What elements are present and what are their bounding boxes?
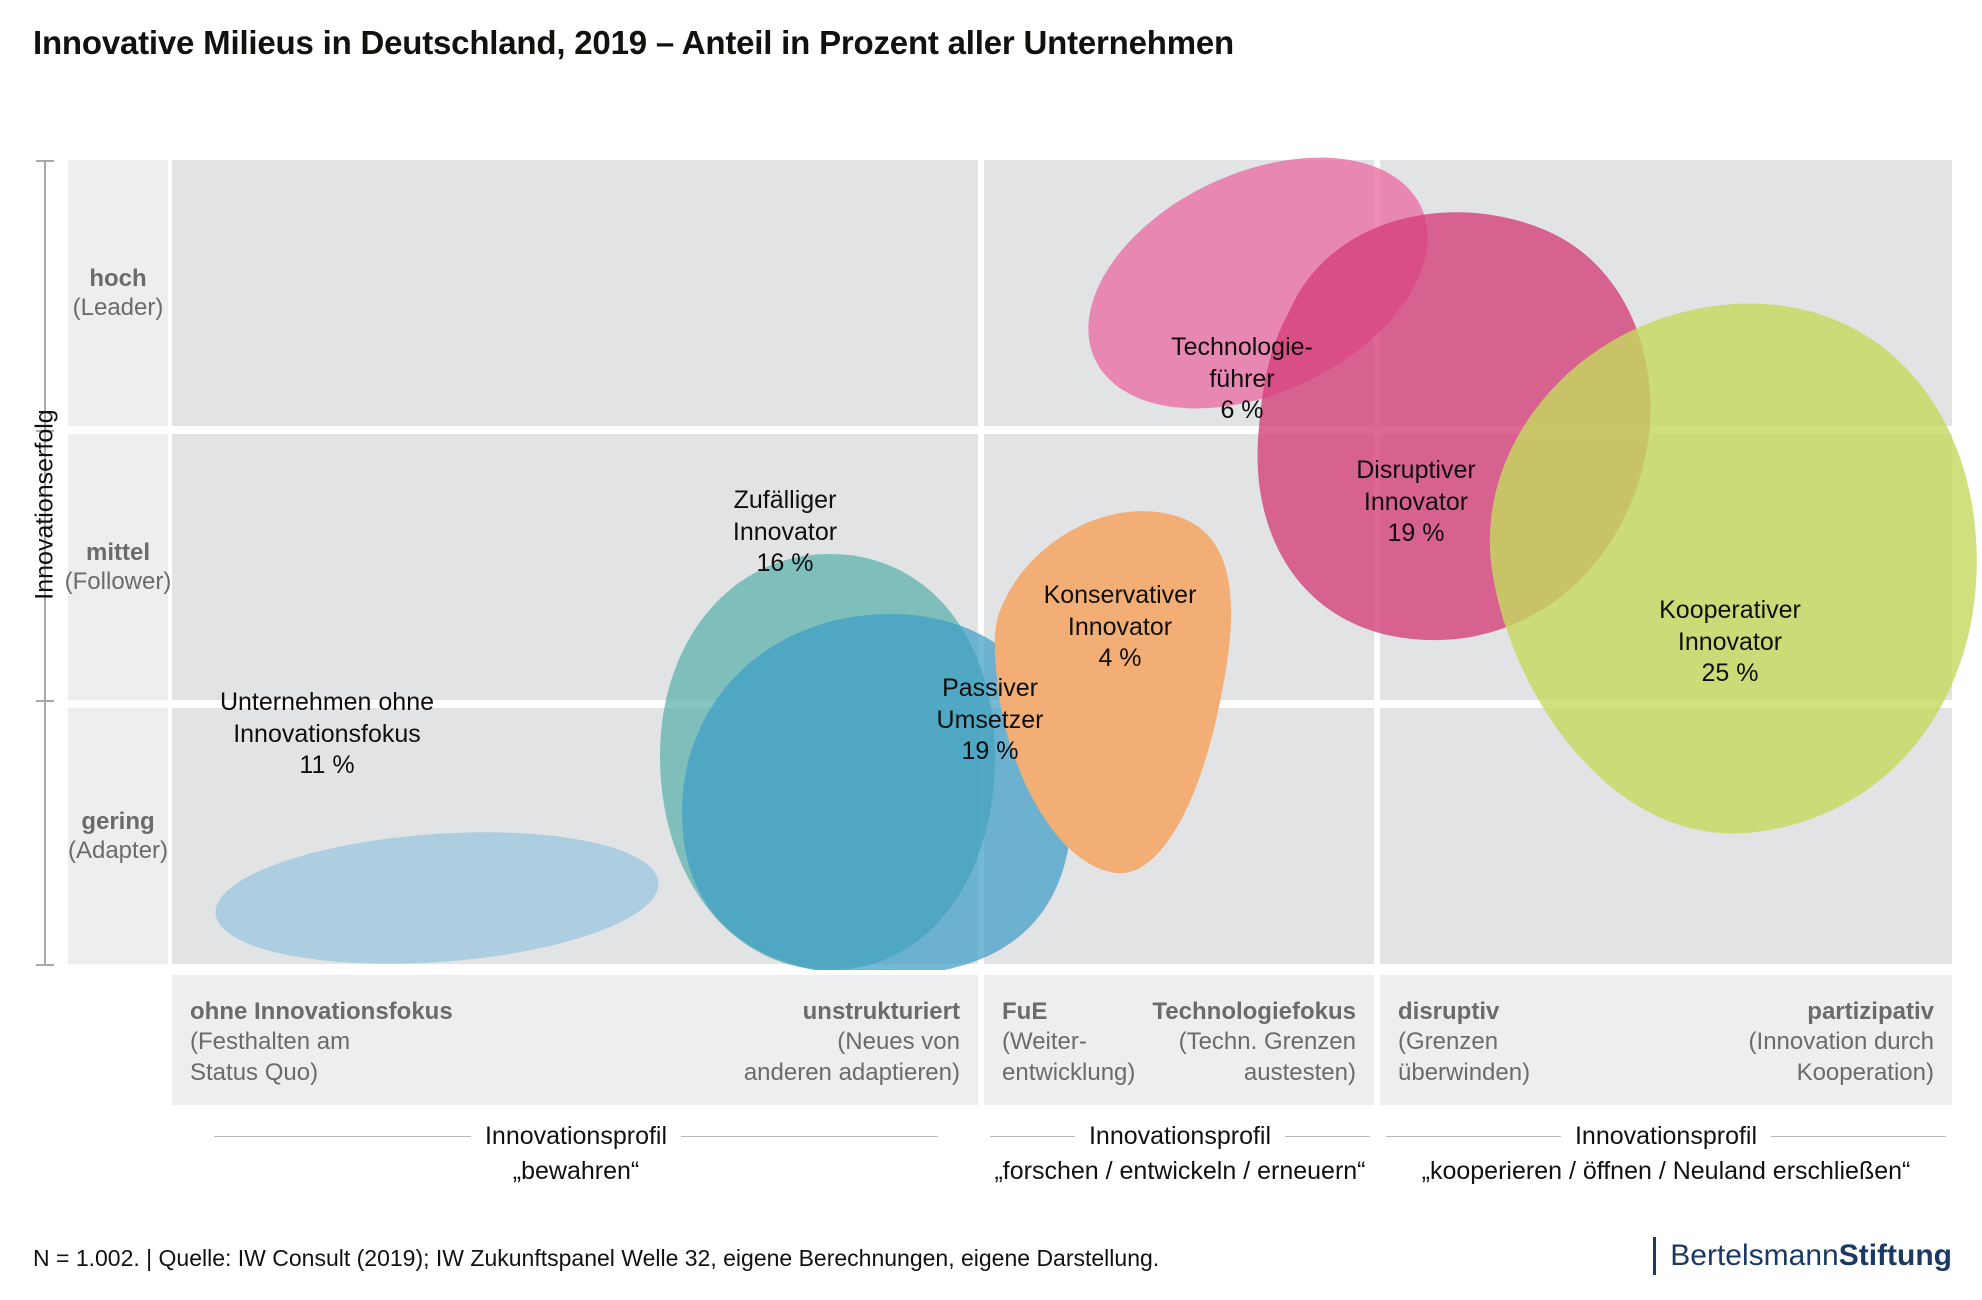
blob-label-konservativer-innovator: Konservativer Innovator 4 %	[1000, 580, 1240, 675]
source-note: N = 1.002. | Quelle: IW Consult (2019); …	[33, 1245, 1159, 1272]
group-caption-line1: Innovationsprofil	[1575, 1122, 1757, 1151]
x-label-right: unstrukturiert (Neues von anderen adapti…	[744, 997, 960, 1088]
blob-value: 6 %	[1122, 395, 1362, 427]
x-label-left-strong: disruptiv	[1398, 997, 1530, 1027]
group-caption-line2: „kooperieren / öffnen / Neuland erschlie…	[1386, 1157, 1946, 1186]
x-band-kooperieren: disruptiv (Grenzen überwinden) partizipa…	[1380, 975, 1952, 1105]
x-label-right-strong: unstrukturiert	[744, 997, 960, 1027]
group-caption-forschen: Innovationsprofil „forschen / entwickeln…	[990, 1122, 1370, 1192]
blob-label-technologiefuehrer: Technologie- führer 6 %	[1122, 332, 1362, 427]
grid-cell	[1380, 708, 1952, 964]
x-label-right: partizipativ (Innovation durch Kooperati…	[1749, 997, 1934, 1088]
blob-value: 4 %	[1000, 643, 1240, 675]
group-caption-bewahren: Innovationsprofil „bewahren“	[214, 1122, 938, 1192]
blob-value: 11 %	[157, 750, 497, 782]
group-caption-line2: „forschen / entwickeln / erneuern“	[990, 1157, 1370, 1186]
x-label-left: disruptiv (Grenzen überwinden)	[1398, 997, 1530, 1088]
y-category-label: mittel	[86, 538, 150, 567]
x-label-left-sub: (Grenzen überwinden)	[1398, 1028, 1530, 1085]
y-category-hoch: hoch (Leader)	[68, 160, 168, 426]
grid-cell	[172, 160, 978, 426]
blob-title: Zufälliger Innovator	[660, 485, 910, 548]
x-label-left-sub: (Weiter- entwicklung)	[1002, 1028, 1135, 1085]
x-label-right-sub: (Innovation durch Kooperation)	[1749, 1028, 1934, 1085]
bertelsmann-stiftung-logo: BertelsmannStiftung	[1653, 1237, 1952, 1275]
blob-label-zufaelliger-innovator: Zufälliger Innovator 16 %	[660, 485, 910, 580]
x-label-right-strong: partizipativ	[1749, 997, 1934, 1027]
x-label-right: Technologiefokus (Techn. Grenzen austest…	[1152, 997, 1356, 1088]
logo-text-bold: Stiftung	[1839, 1239, 1952, 1272]
group-rule-left	[214, 1136, 471, 1137]
group-caption-line1: Innovationsprofil	[1089, 1122, 1271, 1151]
group-rule-left	[990, 1136, 1075, 1137]
page-title: Innovative Milieus in Deutschland, 2019 …	[33, 24, 1234, 62]
blob-label-disruptiver-innovator: Disruptiver Innovator 19 %	[1296, 455, 1536, 550]
blob-label-passiver-umsetzer: Passiver Umsetzer 19 %	[870, 673, 1110, 768]
x-band-bewahren: ohne Innovationsfokus (Festhalten am Sta…	[172, 975, 978, 1105]
x-label-left: FuE (Weiter- entwicklung)	[1002, 997, 1135, 1088]
group-caption-line1: Innovationsprofil	[485, 1122, 667, 1151]
x-label-right-sub: (Techn. Grenzen austesten)	[1179, 1028, 1356, 1085]
blob-value: 19 %	[1296, 518, 1536, 550]
blob-value: 16 %	[660, 548, 910, 580]
blob-title: Disruptiver Innovator	[1296, 455, 1536, 518]
x-label-left-strong: FuE	[1002, 997, 1135, 1027]
group-rule-left	[1386, 1136, 1561, 1137]
y-axis-title: Innovationserfolg	[31, 405, 60, 605]
grid-cell	[1380, 160, 1952, 426]
y-axis-tick	[36, 700, 54, 702]
y-category-sublabel: (Adapter)	[68, 836, 168, 865]
x-label-left: ohne Innovationsfokus (Festhalten am Sta…	[190, 997, 453, 1088]
blob-title: Passiver Umsetzer	[870, 673, 1110, 736]
blob-value: 25 %	[1590, 658, 1870, 690]
blob-title: Konservativer Innovator	[1000, 580, 1240, 643]
blob-label-kooperativer-innovator: Kooperativer Innovator 25 %	[1590, 595, 1870, 690]
x-label-right-strong: Technologiefokus	[1152, 997, 1356, 1027]
group-rule-right	[1285, 1136, 1370, 1137]
y-axis-tick	[36, 964, 54, 966]
x-label-right-sub: (Neues von anderen adaptieren)	[744, 1028, 960, 1085]
x-band-forschen: FuE (Weiter- entwicklung) Technologiefok…	[984, 975, 1374, 1105]
logo-text-light: Bertelsmann	[1670, 1239, 1838, 1272]
blob-value: 19 %	[870, 736, 1110, 768]
y-category-gering: gering (Adapter)	[68, 708, 168, 964]
x-label-left-strong: ohne Innovationsfokus	[190, 997, 453, 1027]
chart-area: Innovationserfolg hoch (Leader) mittel (…	[0, 140, 1982, 970]
group-rule-right	[1771, 1136, 1946, 1137]
y-category-sublabel: (Follower)	[65, 567, 172, 596]
logo-bar-icon	[1653, 1237, 1656, 1275]
blob-title: Kooperativer Innovator	[1590, 595, 1870, 658]
blob-title: Unternehmen ohne Innovationsfokus	[157, 687, 497, 750]
y-category-sublabel: (Leader)	[73, 293, 164, 322]
blob-title: Technologie- führer	[1122, 332, 1362, 395]
group-rule-right	[681, 1136, 938, 1137]
group-caption-line2: „bewahren“	[214, 1157, 938, 1186]
y-category-label: gering	[81, 807, 154, 836]
group-caption-kooperieren: Innovationsprofil „kooperieren / öffnen …	[1386, 1122, 1946, 1192]
x-label-left-sub: (Festhalten am Status Quo)	[190, 1028, 350, 1085]
y-category-label: hoch	[89, 264, 146, 293]
y-category-mittel: mittel (Follower)	[68, 434, 168, 700]
blob-label-unternehmen-ohne-innovationsfokus: Unternehmen ohne Innovationsfokus 11 %	[157, 687, 497, 782]
y-axis-tick	[36, 160, 54, 162]
